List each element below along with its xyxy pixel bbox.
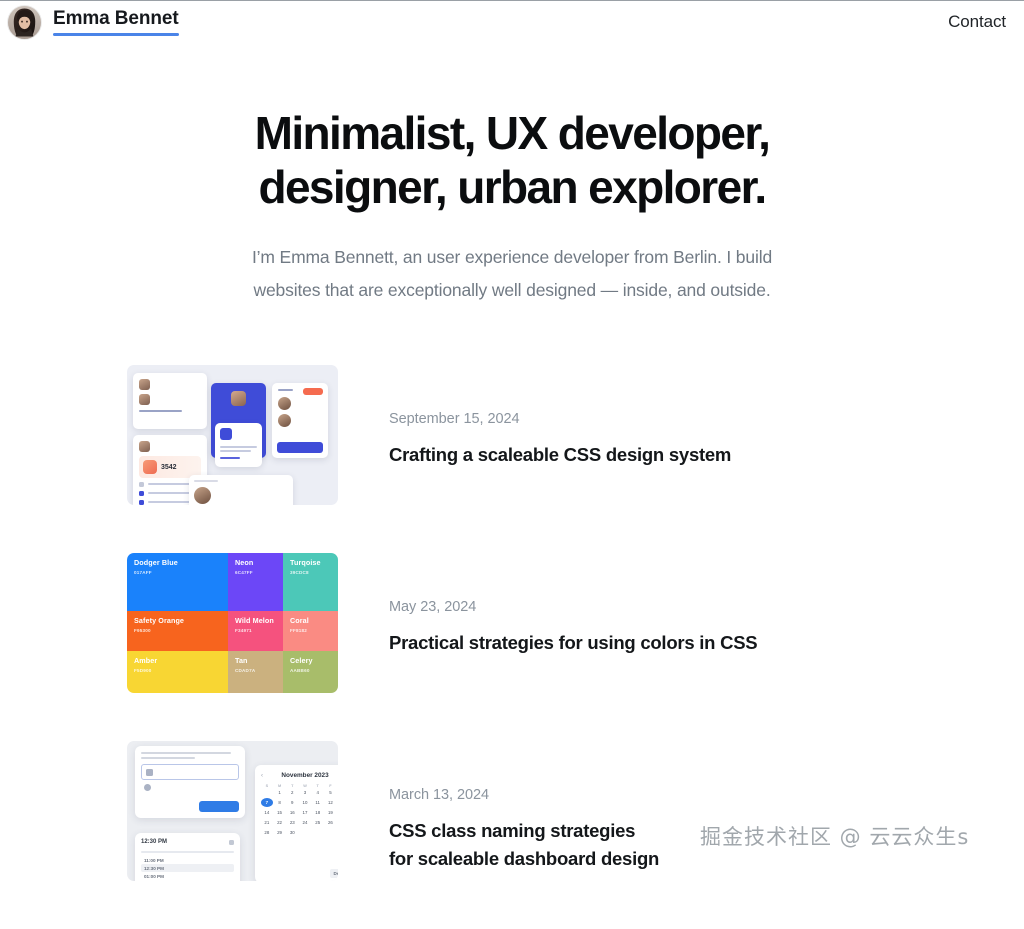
calendar-day[interactable]: 29 xyxy=(274,828,286,837)
calendar-day[interactable]: 22 xyxy=(274,818,286,827)
calendar-day[interactable]: 6 xyxy=(337,788,338,797)
avatar xyxy=(8,6,41,39)
article-title-line-2: for scaleable dashboard design xyxy=(389,845,659,873)
article-date: May 23, 2024 xyxy=(389,599,757,615)
palette-swatch-name: Wild Melon xyxy=(235,617,277,626)
calendar-day[interactable]: 15 xyxy=(274,808,286,817)
calendar-day[interactable]: 13 xyxy=(337,798,338,807)
calendar-day[interactable]: 30 xyxy=(286,828,298,837)
calendar-day[interactable]: 8 xyxy=(274,798,286,807)
calendar-day[interactable]: 7 xyxy=(261,798,273,807)
nav-link-contact[interactable]: Contact xyxy=(948,12,1006,31)
watermark: 掘金技术社区 @ 云云众生s xyxy=(700,821,969,851)
palette-swatch-name: Turqoise xyxy=(290,559,332,568)
mini-card-article-preview xyxy=(189,475,293,505)
palette-swatch-hex: 6C47FF xyxy=(235,570,277,575)
palette-swatch-hex: AABB60 xyxy=(290,668,332,673)
schedule-button[interactable] xyxy=(199,801,239,812)
site-header: Emma Bennet Contact xyxy=(0,0,1024,44)
article-title[interactable]: Crafting a scaleable CSS design system xyxy=(389,441,731,469)
mini-card-plan xyxy=(215,423,262,467)
palette-swatch: Wild Melon F34971 xyxy=(228,611,283,651)
hero-section: Minimalist, UX developer, designer, urba… xyxy=(0,106,1024,308)
palette-swatch: Amber F5D900 xyxy=(127,651,228,693)
calendar-day[interactable]: 12 xyxy=(325,798,337,807)
article-title-line-1: CSS class naming strategies xyxy=(389,817,659,845)
calendar-day[interactable]: 20 xyxy=(337,808,338,817)
palette-swatch: Dodger Blue 017AFF xyxy=(127,553,228,611)
palette-swatch: Safety Orange F95300 xyxy=(127,611,228,651)
palette-swatch-name: Dodger Blue xyxy=(134,559,222,568)
article-item[interactable]: Dodger Blue 017AFF Neon 6C47FF Turqoise … xyxy=(127,553,1024,741)
calendar-day-grid[interactable]: .123456789101112131415161718192021222324… xyxy=(261,788,338,837)
chevron-down-icon[interactable] xyxy=(229,840,234,845)
calendar-month-title: November 2023 xyxy=(281,772,328,779)
brand-underline xyxy=(53,33,179,36)
hero-title-line-1: Minimalist, UX developer, xyxy=(60,106,964,160)
palette-swatch-name: Amber xyxy=(134,657,222,666)
mini-card-time-list: 12:30 PM 11:00 PM 12:30 PM 01:00 PM 01:3… xyxy=(135,833,240,881)
calendar-day: . xyxy=(261,788,273,797)
palette-swatch-hex: F5D900 xyxy=(134,668,222,673)
calendar-day[interactable]: 17 xyxy=(299,808,311,817)
time-option[interactable]: 01:30 PM xyxy=(141,880,234,881)
calendar-day[interactable]: 14 xyxy=(261,808,273,817)
calendar-day[interactable]: 16 xyxy=(286,808,298,817)
palette-swatch-name: Coral xyxy=(290,617,332,626)
calendar-day[interactable]: 24 xyxy=(299,818,311,827)
calendar-day[interactable]: 10 xyxy=(299,798,311,807)
primary-nav: Contact xyxy=(948,12,1006,32)
date-field xyxy=(141,764,239,780)
palette-swatch-name: Safety Orange xyxy=(134,617,222,626)
time-option[interactable]: 01:00 PM xyxy=(141,872,234,880)
calendar-done-button[interactable]: Done xyxy=(330,869,338,878)
time-option[interactable]: 12:30 PM xyxy=(141,864,234,872)
article-text: May 23, 2024 Practical strategies for us… xyxy=(389,553,757,657)
palette-swatch-hex: FF8182 xyxy=(290,628,332,633)
palette-swatch-name: Tan xyxy=(235,657,277,666)
calendar-day[interactable]: 25 xyxy=(312,818,324,827)
mini-card-notifications xyxy=(133,373,207,429)
article-item[interactable]: 3542 xyxy=(127,365,1024,553)
hero-subtitle: I’m Emma Bennett, an user experience dev… xyxy=(202,241,822,309)
article-title[interactable]: Practical strategies for using colors in… xyxy=(389,629,757,657)
page-title: Minimalist, UX developer, designer, urba… xyxy=(60,106,964,215)
clock-icon xyxy=(144,784,151,791)
palette-swatch: Neon 6C47FF xyxy=(228,553,283,611)
palette-swatch-hex: CDAD7A xyxy=(235,668,277,673)
article-date: September 15, 2024 xyxy=(389,411,731,427)
mini-card-booking-form xyxy=(135,746,245,818)
article-text: March 13, 2024 CSS class naming strategi… xyxy=(389,741,659,873)
hero-subtitle-line-1: I’m Emma Bennett, an user experience dev… xyxy=(202,241,822,275)
calendar-day[interactable]: 19 xyxy=(325,808,337,817)
time-field xyxy=(141,784,239,791)
calendar-day[interactable]: 3 xyxy=(299,788,311,797)
palette-swatch-hex: 39CDC8 xyxy=(290,570,332,575)
calendar-day[interactable]: 11 xyxy=(312,798,324,807)
brand-name-wrap: Emma Bennet xyxy=(53,9,179,36)
calendar-day[interactable]: 27 xyxy=(337,818,338,827)
calendar-icon xyxy=(146,769,153,776)
calendar-day[interactable]: 26 xyxy=(325,818,337,827)
prev-month-icon[interactable]: ‹ xyxy=(261,773,263,779)
brand-link[interactable]: Emma Bennet xyxy=(8,6,179,39)
palette-swatch-name: Celery xyxy=(290,657,332,666)
palette-swatch: Coral FF8182 xyxy=(283,611,338,651)
palette-swatch: Tan CDAD7A xyxy=(228,651,283,693)
palette-swatch-hex: F34971 xyxy=(235,628,277,633)
time-selected-value: 12:30 PM xyxy=(141,839,167,845)
article-thumbnail-date-picker[interactable]: 12:30 PM 11:00 PM 12:30 PM 01:00 PM 01:3… xyxy=(127,741,338,881)
calendar-day[interactable]: 4 xyxy=(312,788,324,797)
calendar-day[interactable]: 23 xyxy=(286,818,298,827)
hero-title-line-2: designer, urban explorer. xyxy=(60,160,964,214)
mini-card-cart xyxy=(272,383,328,458)
palette-swatch-hex: F95300 xyxy=(134,628,222,633)
article-title-line-1: Practical strategies for using colors in… xyxy=(389,629,757,657)
calendar-day[interactable]: 9 xyxy=(286,798,298,807)
article-title-line-1: Crafting a scaleable CSS design system xyxy=(389,441,731,469)
palette-swatch-hex: 017AFF xyxy=(134,570,222,575)
calendar-day[interactable]: 5 xyxy=(325,788,337,797)
calendar-day[interactable]: 1 xyxy=(274,788,286,797)
article-thumbnail-ui-cards[interactable]: 3542 xyxy=(127,365,338,505)
time-option[interactable]: 11:00 PM xyxy=(141,856,234,864)
calendar-day[interactable]: 18 xyxy=(312,808,324,817)
palette-swatch: Turqoise 39CDC8 xyxy=(283,553,338,611)
article-title[interactable]: CSS class naming strategies for scaleabl… xyxy=(389,817,659,873)
calendar-day[interactable]: 28 xyxy=(261,828,273,837)
brand-name: Emma Bennet xyxy=(53,8,179,29)
article-thumbnail-color-palette[interactable]: Dodger Blue 017AFF Neon 6C47FF Turqoise … xyxy=(127,553,338,693)
calendar-day[interactable]: 2 xyxy=(286,788,298,797)
hero-subtitle-line-2: websites that are exceptionally well des… xyxy=(202,274,822,308)
calendar-day[interactable]: 21 xyxy=(261,818,273,827)
mini-card-calendar: ‹ November 2023 › S M T W T F S .1234567… xyxy=(255,765,338,881)
palette-swatch-name: Neon xyxy=(235,559,277,568)
palette-swatch: Celery AABB60 xyxy=(283,651,338,693)
article-date: March 13, 2024 xyxy=(389,787,659,803)
article-text: September 15, 2024 Crafting a scaleable … xyxy=(389,365,731,469)
